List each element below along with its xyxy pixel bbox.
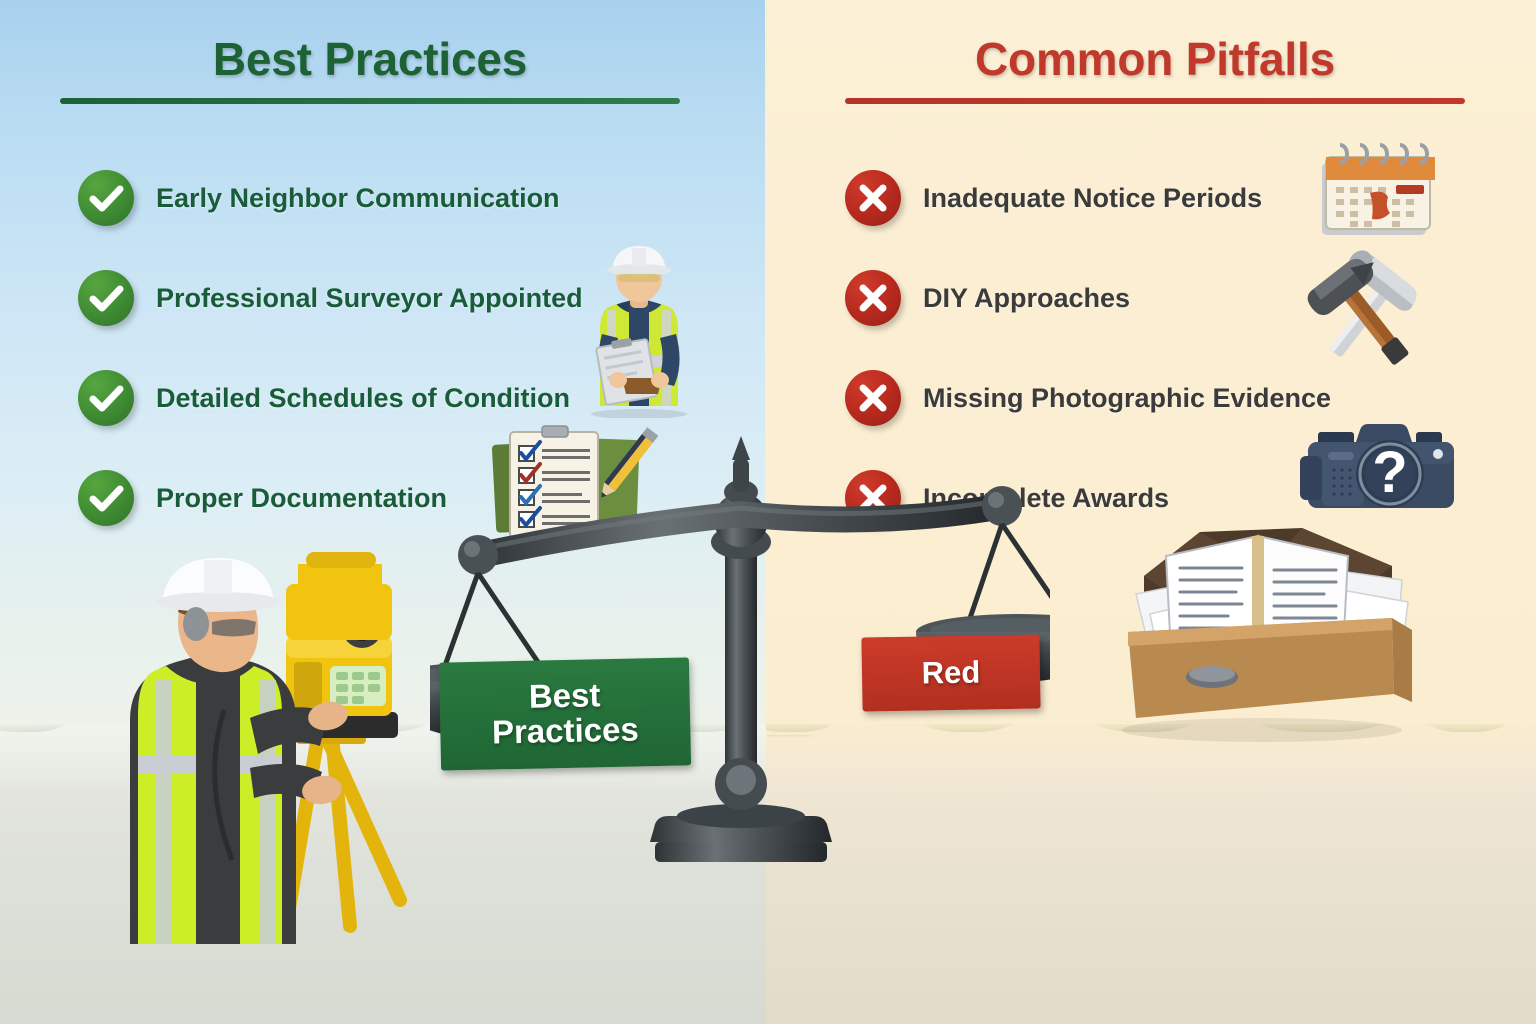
check-circle-icon	[78, 170, 134, 226]
right-title-underline	[845, 98, 1465, 104]
x-circle-icon	[845, 170, 901, 226]
plaque-line-2: Practices	[492, 710, 640, 750]
box-of-loose-documents-icon	[1092, 522, 1422, 744]
surveyor-with-theodolite-photo	[100, 540, 436, 944]
check-circle-icon	[78, 370, 134, 426]
surveyor-with-clipboard-icon	[572, 238, 706, 418]
list-item-label: DIY Approaches	[923, 283, 1130, 314]
check-circle-icon	[78, 270, 134, 326]
best-practices-title: Best Practices	[60, 32, 680, 86]
check-circle-icon	[78, 470, 134, 526]
scale-left-pan-label: Best Practices	[439, 657, 691, 770]
infographic-canvas: Best Practices Common Pitfalls Early Nei…	[0, 0, 1536, 1024]
crossed-hammers-icon	[1296, 250, 1436, 378]
list-item-label: Detailed Schedules of Condition	[156, 383, 570, 414]
list-item-label: Inadequate Notice Periods	[923, 183, 1262, 214]
list-item-label: Early Neighbor Communication	[156, 183, 560, 214]
plaque-label: Red	[921, 656, 980, 690]
x-circle-icon	[845, 370, 901, 426]
left-panel-heading: Best Practices	[60, 32, 680, 104]
x-circle-icon	[845, 270, 901, 326]
plaque-line-1: Best	[528, 677, 600, 715]
common-pitfalls-title: Common Pitfalls	[845, 32, 1465, 86]
scale-right-pan-label: Red	[861, 634, 1040, 711]
right-panel-heading: Common Pitfalls	[845, 32, 1465, 104]
list-item-label: Missing Photographic Evidence	[923, 383, 1331, 414]
list-item-label: Professional Surveyor Appointed	[156, 283, 583, 314]
camera-with-question-mark-icon: ?	[1298, 414, 1462, 532]
svg-text:?: ?	[1372, 440, 1407, 505]
list-item-label: Proper Documentation	[156, 483, 447, 514]
left-title-underline	[60, 98, 680, 104]
calendar-icon	[1308, 135, 1440, 243]
list-item: Early Neighbor Communication	[78, 148, 718, 248]
